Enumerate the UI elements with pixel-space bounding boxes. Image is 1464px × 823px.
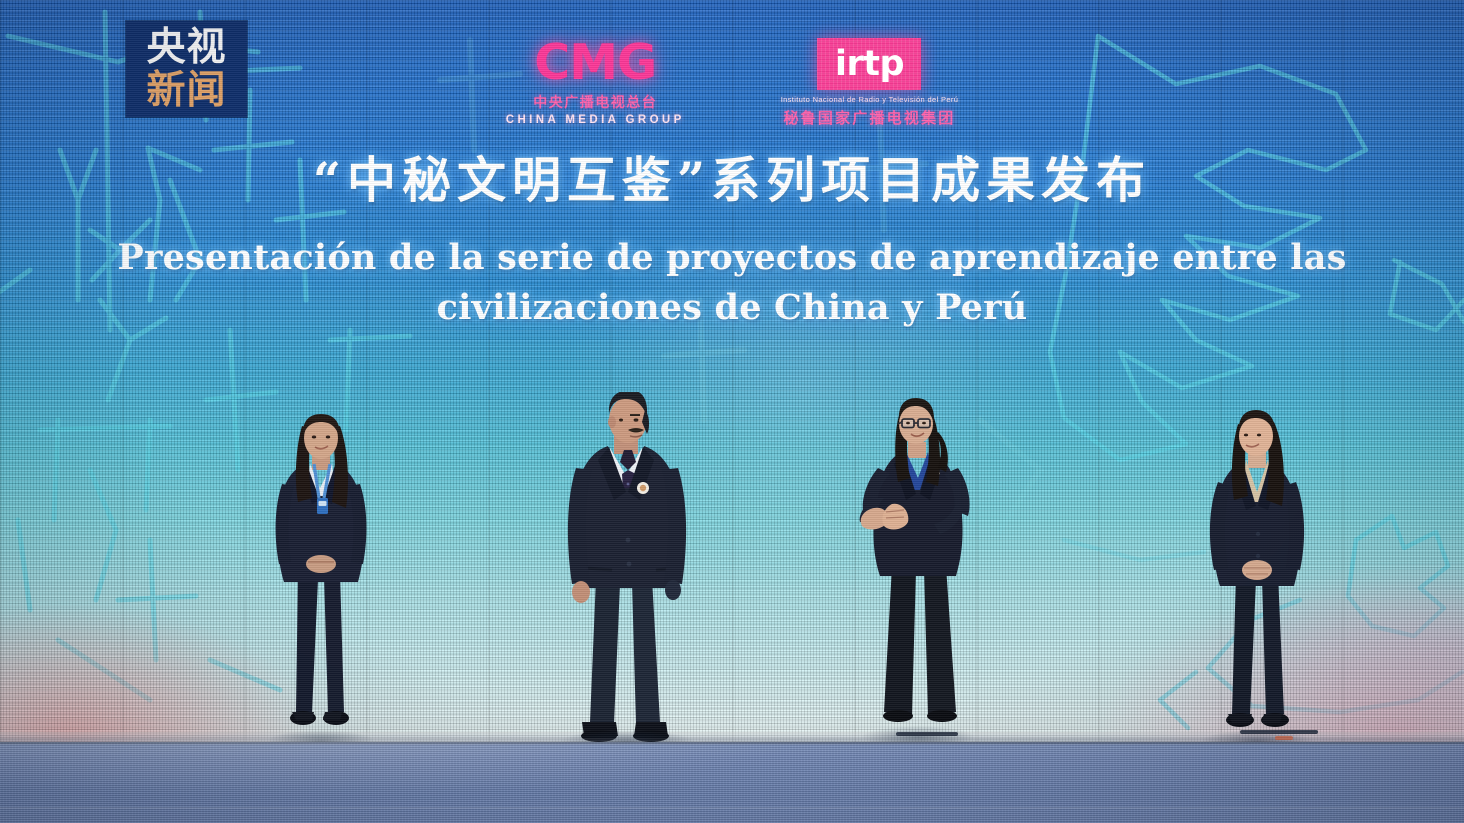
- event-photo: CMG 中央广播电视总台 CHINA MEDIA GROUP irtp Inst…: [0, 0, 1464, 823]
- irtp-logo-block: irtp: [817, 38, 921, 90]
- cctv-news-logo: 央视 新闻: [126, 21, 247, 117]
- cmg-wordmark: CMG: [534, 38, 656, 88]
- event-title-spanish: Presentación de la serie de proyectos de…: [0, 233, 1464, 333]
- irtp-spanish-name: Instituto Nacional de Radio y Televisión…: [781, 95, 959, 104]
- stage-cable-center: [896, 732, 958, 736]
- cctv-news-logo-line-1: 央视: [146, 26, 226, 69]
- cmg-english-name: CHINA MEDIA GROUP: [506, 114, 685, 126]
- stage-floor-seam-line: [0, 807, 1464, 809]
- stage-floor-light-sheen: [0, 738, 805, 798]
- cmg-logo: CMG 中央广播电视总台 CHINA MEDIA GROUP: [506, 38, 685, 126]
- person-4: [1196, 410, 1320, 750]
- stage-cable-right: [1240, 730, 1318, 734]
- irtp-chinese-name: 秘鲁国家广播电视集团: [783, 107, 955, 128]
- irtp-logo: irtp Instituto Nacional de Radio y Telev…: [781, 38, 959, 128]
- cctv-news-logo-line-2: 新闻: [146, 69, 226, 112]
- event-title-chinese: “中秘文明互鉴”系列项目成果发布: [0, 152, 1464, 208]
- stage-cable-orange: [1275, 736, 1293, 740]
- stage-floor: [0, 742, 1464, 823]
- irtp-wordmark: irtp: [835, 47, 904, 82]
- person-3: [856, 398, 982, 746]
- event-title-spanish-line-1: Presentación de la serie de proyectos de…: [0, 233, 1464, 283]
- cmg-chinese-name: 中央广播电视总台: [533, 92, 657, 112]
- person-2: [552, 392, 704, 752]
- person-1: [262, 412, 382, 748]
- event-title-spanish-line-2: civilizaciones de China y Perú: [0, 283, 1464, 333]
